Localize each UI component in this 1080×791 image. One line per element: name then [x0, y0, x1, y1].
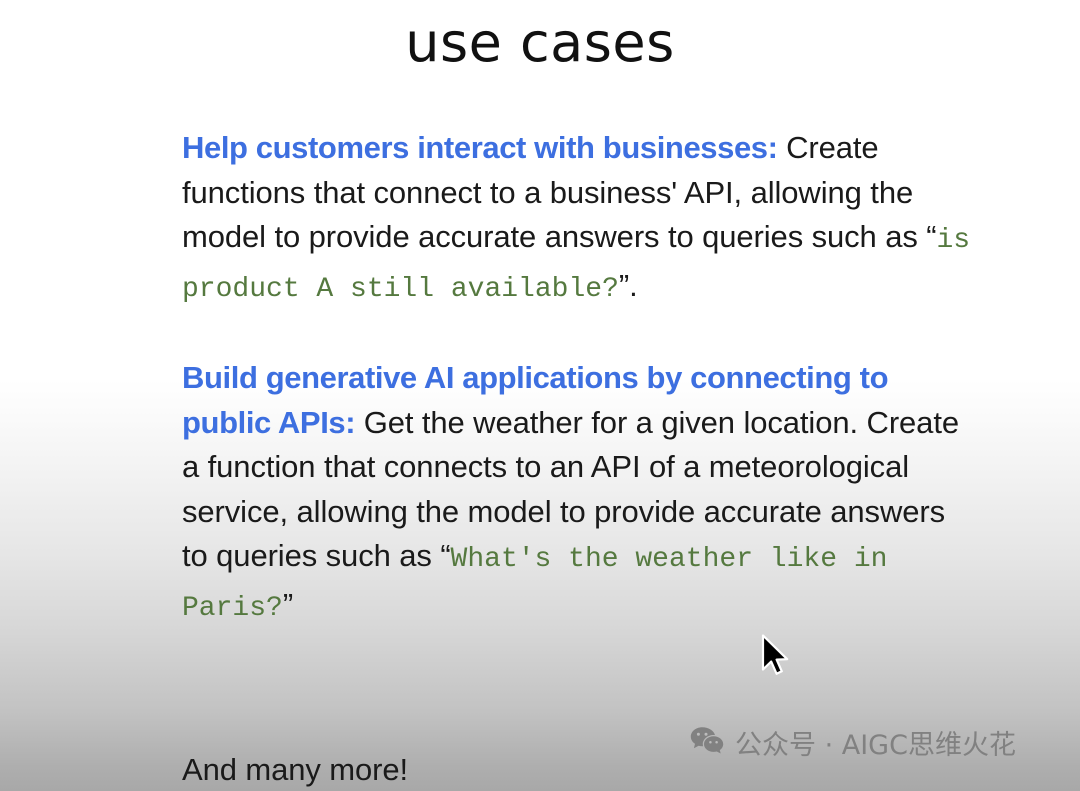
use-case-paragraph: Build generative AI applications by conn… [182, 356, 972, 631]
use-case-body-suffix: . [629, 268, 638, 303]
watermark-text: 公众号 · AIGC思维火花 [735, 729, 1016, 763]
slide-canvas: use cases Help customers interact with b… [0, 0, 1080, 791]
close-quote-mark: ” [619, 268, 629, 303]
use-cases-body: Help customers interact with businesses:… [182, 126, 972, 631]
close-quote-mark: ” [283, 587, 293, 622]
use-case-paragraph: Help customers interact with businesses:… [182, 126, 972, 312]
use-case-lead-heading: Help customers interact with businesses: [182, 130, 778, 165]
page-title: use cases [0, 8, 1080, 78]
closing-line: And many more! [182, 748, 408, 791]
watermark: 公众号 · AIGC思维火花 [690, 726, 1016, 765]
open-quote-mark: “ [926, 219, 936, 254]
mouse-pointer-icon [760, 634, 790, 680]
open-quote-mark: “ [440, 538, 450, 573]
wechat-icon [690, 726, 724, 765]
